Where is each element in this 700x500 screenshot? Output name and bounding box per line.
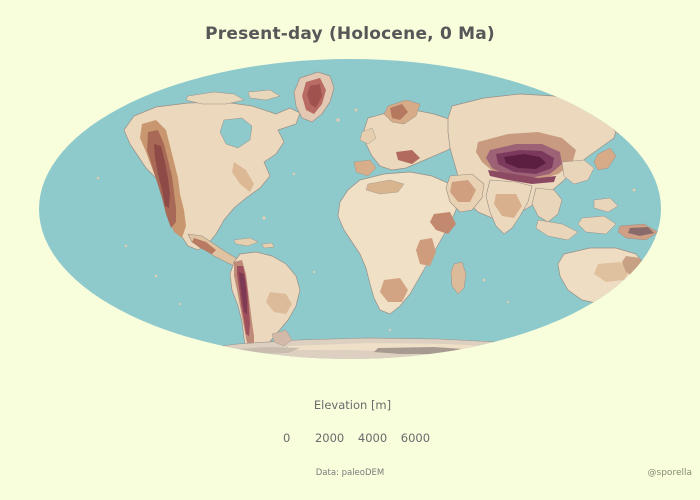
data-source-caption: Data: paleoDEM: [0, 468, 700, 478]
mollweide-map-svg: [38, 58, 662, 360]
colorbar-tick-labels: 0 2000 4000 6000: [281, 431, 424, 447]
colorbar-gradient: [281, 418, 424, 429]
colorbar-tick-6000: 6000: [401, 431, 430, 445]
region-australia: [558, 248, 662, 330]
colorbar-tick-0: 0: [283, 431, 290, 445]
page-title: Present-day (Holocene, 0 Ma): [0, 24, 700, 44]
figure-canvas: Present-day (Holocene, 0 Ma): [0, 0, 700, 500]
colorbar-title: Elevation [m]: [281, 398, 424, 412]
world-map: [38, 58, 662, 360]
colorbar-tick-4000: 4000: [358, 431, 387, 445]
author-watermark: @sporella: [648, 468, 692, 478]
colorbar-tick-2000: 2000: [315, 431, 344, 445]
